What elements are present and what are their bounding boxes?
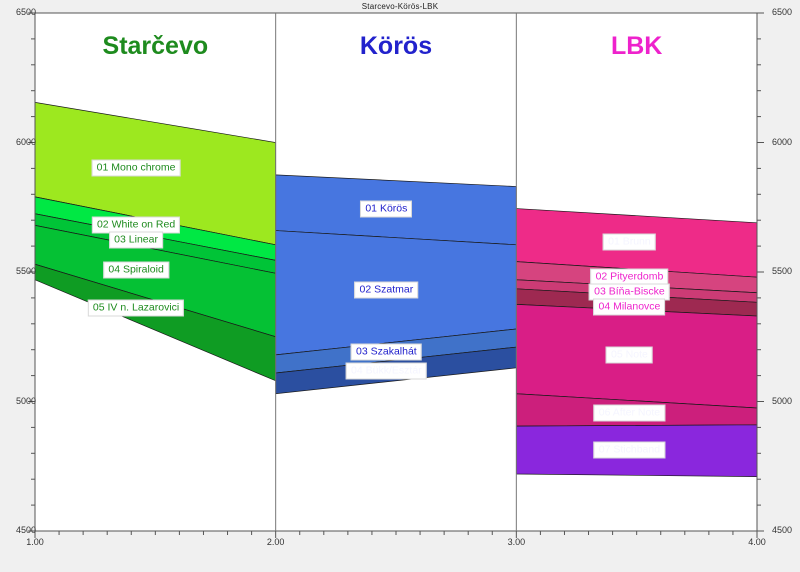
y-axis-tick-label-left: 6000 (16, 137, 36, 147)
band-label[interactable]: 04 Bükk/Esztár (346, 363, 427, 380)
x-axis-tick-label: 3.00 (496, 537, 536, 547)
chart-root: Starcevo-Körös-LBK 650060005500500045006… (0, 0, 800, 572)
x-axis-tick-label: 1.00 (15, 537, 55, 547)
y-axis-tick-label-right: 4500 (772, 525, 792, 535)
y-axis-tick-label-right: 6500 (772, 7, 792, 17)
y-axis-tick-label-right: 6000 (772, 137, 792, 147)
group-title-starcevo: Starčevo (35, 32, 275, 61)
band-label[interactable]: 01 Mono chrome (92, 160, 181, 177)
band-label[interactable]: 03 Linear (109, 232, 163, 249)
y-axis-tick-label-left: 4500 (16, 525, 36, 535)
y-axis-tick-label-right: 5000 (772, 396, 792, 406)
group-title-koros: Körös (276, 32, 516, 61)
y-axis-tick-label-left: 5500 (16, 266, 36, 276)
band-label[interactable]: 06 After Note (594, 404, 665, 421)
x-axis-tick-label: 4.00 (737, 537, 777, 547)
group-title-lbk: LBK (517, 32, 757, 61)
band-label[interactable]: 01 Körös (360, 200, 412, 217)
band-label[interactable]: 05 IV n. Lazarovici (88, 300, 184, 317)
x-axis-tick-label: 2.00 (256, 537, 296, 547)
y-axis-tick-label-left: 6500 (16, 7, 36, 17)
band-label[interactable]: 03 Szakalhát (351, 344, 422, 361)
band-label[interactable]: 04 Milanovce (594, 299, 666, 316)
y-axis-tick-label-right: 5500 (772, 266, 792, 276)
band-label[interactable]: 05 Note (606, 347, 653, 364)
band-label[interactable]: 04 Spiraloid (103, 262, 168, 279)
band-label[interactable]: 01 Brunn (603, 234, 656, 251)
band-label[interactable]: 02 Szatmar (355, 282, 419, 299)
band-label[interactable]: 07 Stichband (594, 442, 665, 459)
y-axis-tick-label-left: 5000 (16, 396, 36, 406)
